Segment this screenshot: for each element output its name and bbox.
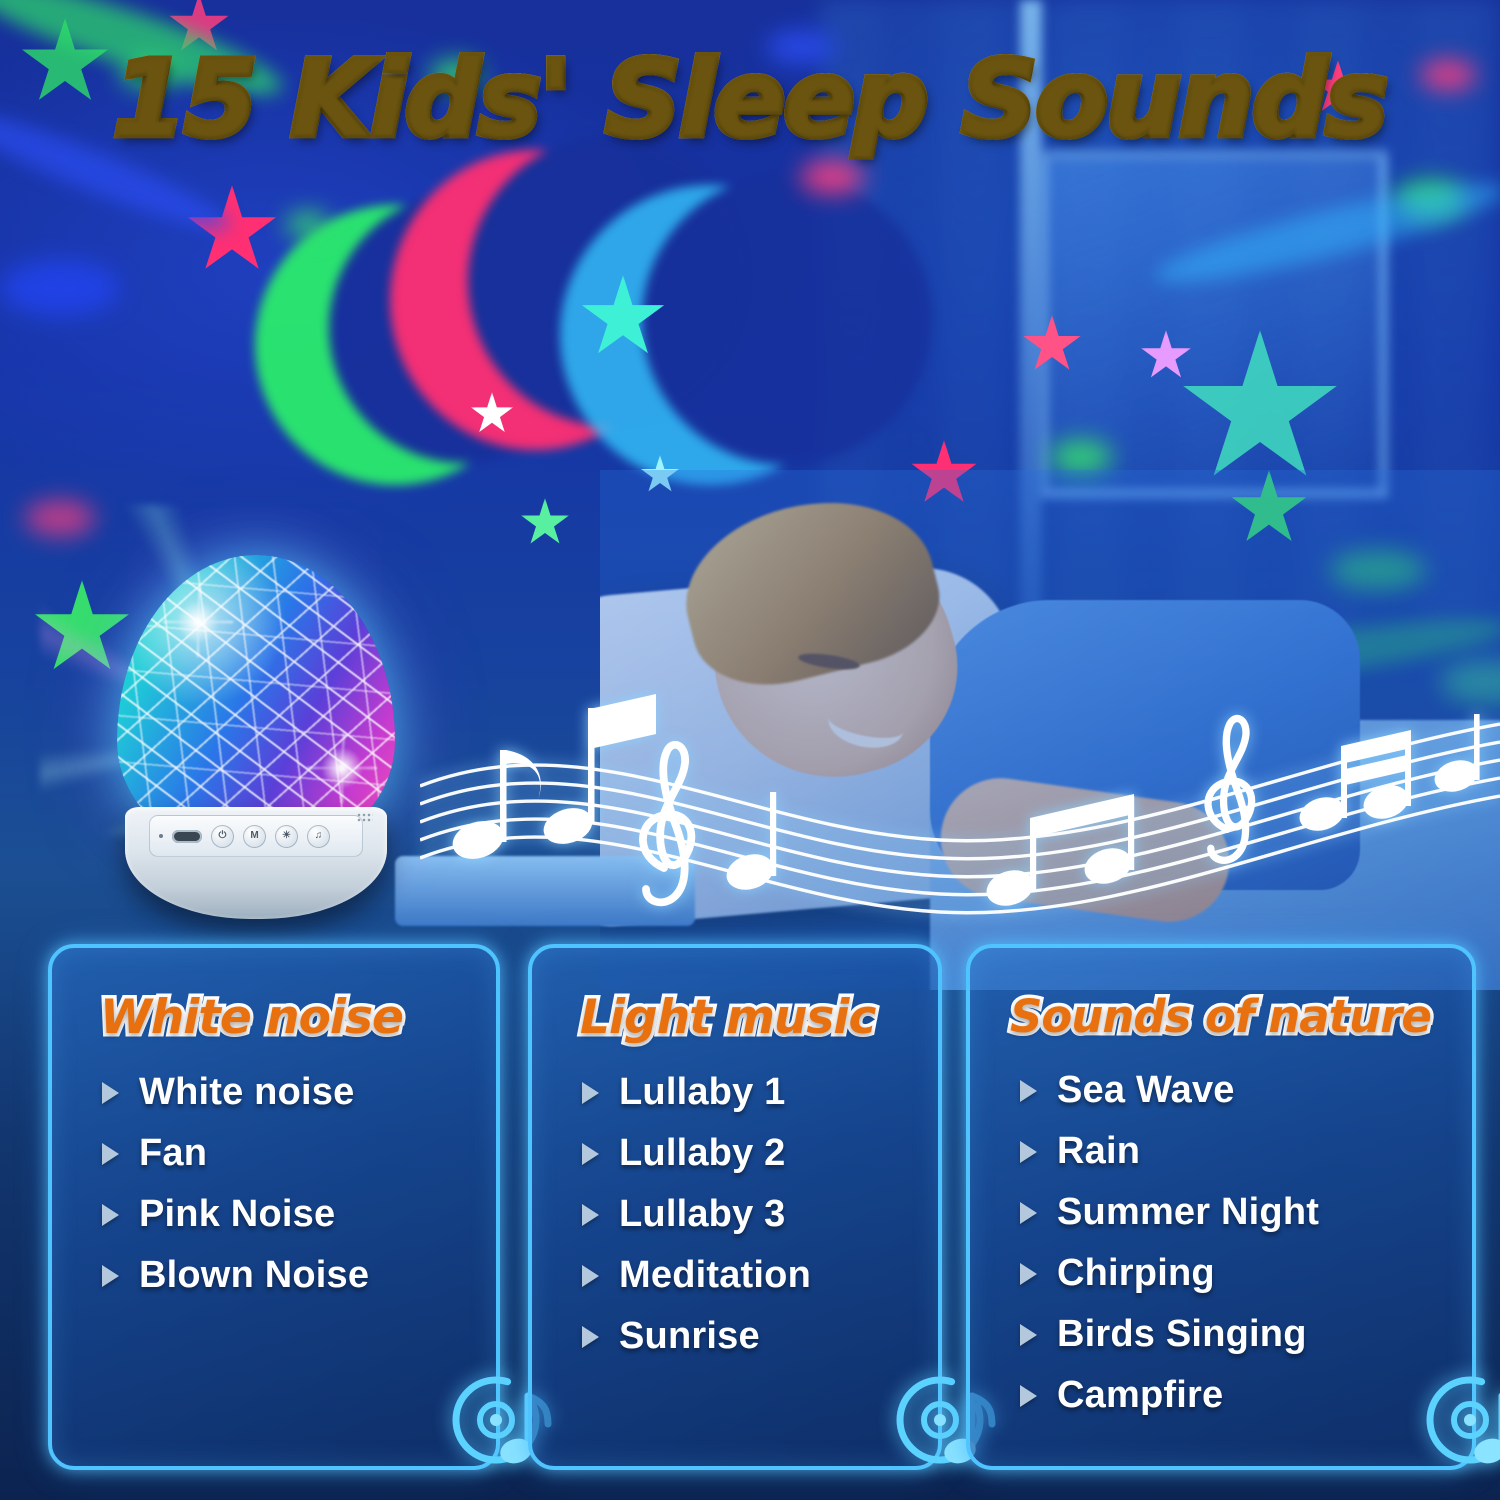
lamp-base: ⏻ M ☀ ♫ [125,807,387,919]
sound-list: Lullaby 1 Lullaby 2 Lullaby 3 Meditation… [566,1071,938,1358]
sound-label: Blown Noise [139,1254,369,1297]
list-item[interactable]: Chirping [1004,1252,1472,1295]
speaker-grille [357,813,373,823]
triangle-bullet-icon [102,1082,119,1104]
sound-label: Birds Singing [1057,1313,1307,1356]
list-item[interactable]: Meditation [566,1254,938,1297]
sleeping-child-photo [600,470,1500,990]
triangle-bullet-icon [1020,1141,1037,1163]
list-item[interactable]: Rain [1004,1130,1472,1173]
nightstand [395,856,695,926]
list-item[interactable]: Campfire [1004,1374,1472,1417]
light-dot [800,160,864,194]
power-button[interactable]: ⏻ [211,825,234,848]
page-title-text: 15 Kids' Sleep Sounds [113,38,1387,160]
triangle-bullet-icon [102,1265,119,1287]
list-item[interactable]: Lullaby 1 [566,1071,938,1114]
triangle-bullet-icon [1020,1324,1037,1346]
card-sounds-of-nature[interactable]: Sounds of nature Sea Wave Rain Summer Ni… [966,944,1476,1470]
card-title: Light music [580,990,938,1045]
triangle-bullet-icon [1020,1080,1037,1102]
brightness-button[interactable]: ☀ [275,825,298,848]
card-title: Sounds of nature [1010,990,1472,1043]
control-panel: ⏻ M ☀ ♫ [149,815,363,857]
card-light-music[interactable]: Light music Lullaby 1 Lullaby 2 Lullaby … [528,944,942,1470]
sound-label: Chirping [1057,1252,1215,1295]
sound-label: Sea Wave [1057,1069,1235,1112]
sound-label: Summer Night [1057,1191,1319,1234]
list-item[interactable]: Pink Noise [86,1193,496,1236]
list-item[interactable]: Blown Noise [86,1254,496,1297]
mode-button[interactable]: M [243,825,266,848]
list-item[interactable]: Fan [86,1132,496,1175]
card-title: White noise [100,990,496,1045]
triangle-bullet-icon [582,1082,599,1104]
sound-label: Rain [1057,1130,1140,1173]
triangle-bullet-icon [582,1326,599,1348]
triangle-bullet-icon [1020,1263,1037,1285]
card-white-noise[interactable]: White noise White noise Fan Pink Noise B… [48,944,500,1470]
light-dot [286,212,330,238]
usb-c-port[interactable] [172,830,202,843]
triangle-bullet-icon [1020,1202,1037,1224]
cd-music-note-icon [1414,1350,1500,1478]
sound-label: Fan [139,1132,207,1175]
sound-label: Lullaby 2 [619,1132,786,1175]
light-dot [25,500,95,536]
list-item[interactable]: Summer Night [1004,1191,1472,1234]
page-title: 15 Kids' Sleep Sounds [0,38,1500,160]
triangle-bullet-icon [582,1143,599,1165]
list-item[interactable]: Birds Singing [1004,1313,1472,1356]
triangle-bullet-icon [582,1204,599,1226]
music-button[interactable]: ♫ [307,825,330,848]
triangle-bullet-icon [582,1265,599,1287]
sound-label: Pink Noise [139,1193,335,1236]
sound-category-cards: White noise White noise Fan Pink Noise B… [0,944,1500,1484]
sound-list: White noise Fan Pink Noise Blown Noise [86,1071,496,1297]
indicator-led [159,834,163,838]
sound-label: Campfire [1057,1374,1223,1417]
sound-label: Lullaby 1 [619,1071,786,1114]
triangle-bullet-icon [1020,1385,1037,1407]
sound-label: Sunrise [619,1315,760,1358]
light-dot [1050,440,1112,474]
light-dot [0,260,120,316]
list-item[interactable]: Lullaby 3 [566,1193,938,1236]
night-light-tint [600,470,1500,990]
sound-label: White noise [139,1071,354,1114]
sound-label: Meditation [619,1254,811,1297]
list-item[interactable]: Sea Wave [1004,1069,1472,1112]
triangle-bullet-icon [102,1143,119,1165]
list-item[interactable]: White noise [86,1071,496,1114]
star-projector-lamp: ⏻ M ☀ ♫ [95,545,415,925]
sound-list: Sea Wave Rain Summer Night Chirping Bird… [1004,1069,1472,1417]
sound-label: Lullaby 3 [619,1193,786,1236]
list-item[interactable]: Sunrise [566,1315,938,1358]
triangle-bullet-icon [102,1204,119,1226]
list-item[interactable]: Lullaby 2 [566,1132,938,1175]
product-feature-image: ⏻ M ☀ ♫ [0,0,1500,1500]
